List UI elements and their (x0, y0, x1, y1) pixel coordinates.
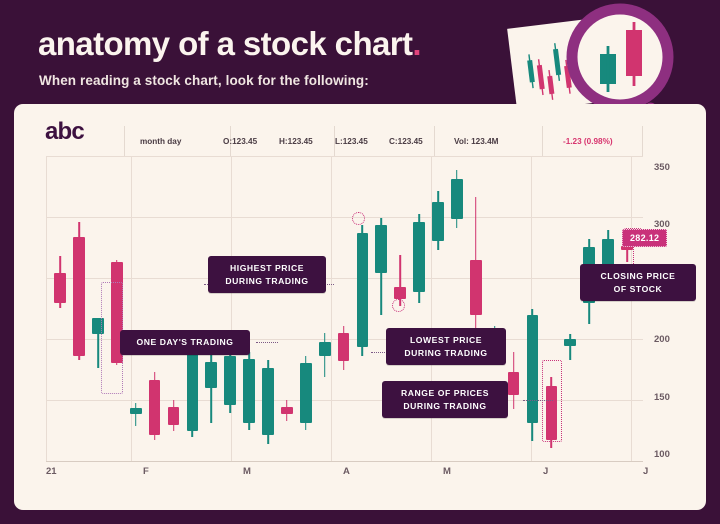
gridline-vertical (46, 156, 47, 461)
x-axis-tick-label: J (543, 466, 548, 477)
candlestick[interactable] (111, 156, 123, 461)
candlestick[interactable] (319, 156, 331, 461)
candle-body (338, 333, 350, 361)
candle-wick (135, 403, 137, 426)
candlestick[interactable] (621, 156, 633, 461)
leader-one-days-trading (256, 342, 278, 343)
candle-body (205, 362, 217, 388)
y-axis-tick-label: 350 (654, 162, 670, 173)
gridline-vertical (331, 156, 332, 461)
candle-body (262, 368, 274, 435)
candlestick[interactable] (92, 156, 104, 461)
candlestick[interactable] (357, 156, 369, 461)
candlestick[interactable] (130, 156, 142, 461)
candlestick[interactable] (527, 156, 539, 461)
page-title: anatomy of a stock chart. (38, 27, 421, 60)
x-axis-tick-label: F (143, 466, 149, 477)
info-close: C:123.45 (389, 137, 423, 146)
candlestick[interactable] (187, 156, 199, 461)
infographic-root: anatomy of a stock chart. When reading a… (0, 0, 720, 524)
candlestick[interactable] (149, 156, 161, 461)
info-high: H:123.45 (279, 137, 313, 146)
info-separator (124, 126, 125, 156)
header: anatomy of a stock chart. When reading a… (0, 0, 720, 104)
info-separator (434, 126, 435, 156)
candle-body (149, 380, 161, 434)
candle-body (508, 372, 520, 395)
page-title-text: anatomy of a stock chart (38, 25, 412, 62)
candle-body (168, 407, 180, 425)
candle-body (54, 273, 66, 303)
candlestick[interactable] (564, 156, 576, 461)
candle-body (357, 233, 369, 347)
quote-info-bar: month day O:123.45 H:123.45 L:123.45 C:1… (14, 104, 706, 156)
candlestick[interactable] (338, 156, 350, 461)
candle-body (394, 287, 406, 299)
candle-body (300, 363, 312, 423)
y-axis-tick-label: 100 (654, 449, 670, 460)
candle-body (413, 222, 425, 292)
candle-body (224, 356, 236, 404)
candlestick[interactable] (262, 156, 274, 461)
candlestick[interactable] (583, 156, 595, 461)
candle-body (451, 179, 463, 219)
callout-range-of-prices[interactable]: RANGE OF PRICES DURING TRADING (382, 381, 508, 418)
candlestick[interactable] (54, 156, 66, 461)
candlestick[interactable] (300, 156, 312, 461)
candle-body (375, 225, 387, 273)
candle-body (130, 408, 142, 414)
candlestick[interactable] (602, 156, 614, 461)
chart-panel: abc month day O:123.45 H:123.45 L:123.45… (14, 104, 706, 510)
callout-one-days-trading[interactable]: ONE DAY'S TRADING (120, 330, 250, 355)
info-date: month day (140, 137, 181, 146)
candle-body (470, 260, 482, 315)
candlestick[interactable] (168, 156, 180, 461)
y-axis-tick-label: 150 (654, 392, 670, 403)
x-axis-tick-label: J (643, 466, 648, 477)
page-title-dot: . (412, 25, 421, 62)
current-price-tag[interactable]: 282.12 (622, 229, 667, 247)
x-axis-line (46, 461, 643, 462)
candle-body (243, 359, 255, 423)
x-axis-tick-label: M (443, 466, 451, 477)
candle-body (527, 315, 539, 423)
x-axis-tick-label: 21 (46, 466, 57, 477)
leader-range-of-prices (523, 400, 553, 401)
page-subtitle: When reading a stock chart, look for the… (39, 73, 369, 88)
callout-closing-price[interactable]: CLOSING PRICE OF STOCK (580, 264, 696, 301)
info-separator (642, 126, 643, 156)
candlestick-plot (46, 156, 643, 461)
candlestick[interactable] (508, 156, 520, 461)
info-open: O:123.45 (223, 137, 257, 146)
candle-body (281, 407, 293, 414)
candle-body (187, 349, 199, 431)
info-volume: Vol: 123.4M (454, 137, 498, 146)
info-change: -1.23 (0.98%) (563, 137, 613, 146)
candle-body (92, 318, 104, 334)
y-axis-tick-label: 200 (654, 334, 670, 345)
candlestick[interactable] (281, 156, 293, 461)
candlestick[interactable] (243, 156, 255, 461)
candle-body (546, 386, 558, 440)
candlestick[interactable] (73, 156, 85, 461)
candlestick[interactable] (546, 156, 558, 461)
candlestick[interactable] (205, 156, 217, 461)
x-axis-tick-label: M (243, 466, 251, 477)
callout-lowest-price[interactable]: LOWEST PRICE DURING TRADING (386, 328, 506, 365)
info-low: L:123.45 (335, 137, 368, 146)
candle-body (319, 342, 331, 356)
candle-body (432, 202, 444, 241)
info-separator (542, 126, 543, 156)
x-axis-tick-label: A (343, 466, 350, 477)
candle-body (564, 339, 576, 346)
candlestick[interactable] (224, 156, 236, 461)
candle-body (73, 237, 85, 357)
callout-highest-price[interactable]: HIGHEST PRICE DURING TRADING (208, 256, 326, 293)
